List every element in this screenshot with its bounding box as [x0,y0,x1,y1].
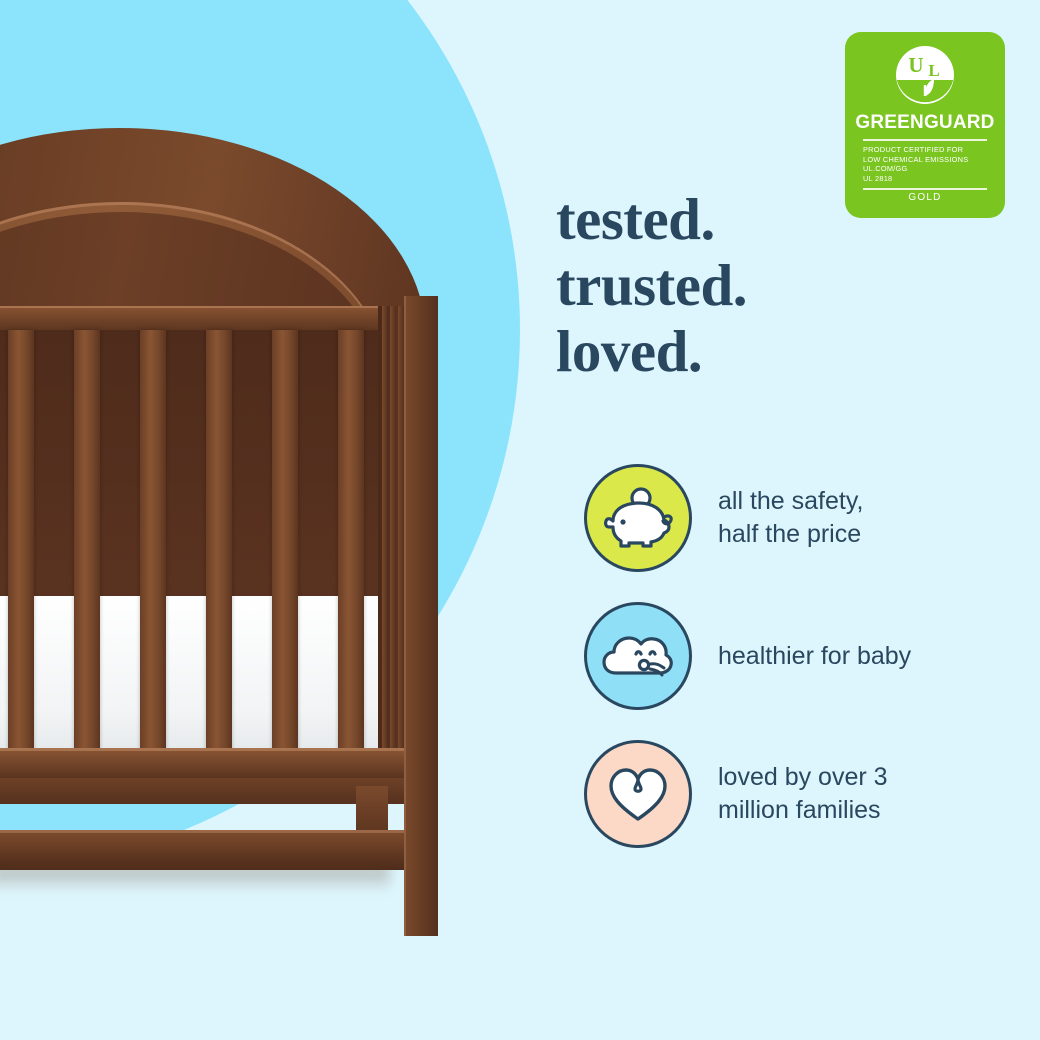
feature-item-loved: loved by over 3 million families [584,740,1004,848]
crib-end-slat [390,306,395,762]
crib-slat [8,330,34,762]
fineprint-line: UL.COM/GG [863,164,987,174]
badge-name: GREENGUARD [855,112,994,134]
feature-list: all the safety, half the price healthier… [584,464,1004,878]
crib-slat [140,330,166,762]
headline-line-2: trusted. [556,252,976,318]
headline-line-1: tested. [556,186,976,252]
crib-shadow [0,866,390,892]
crib-corner-post [404,296,438,936]
crib-slat [74,330,100,762]
headline-line-3: loved. [556,318,976,384]
crib-footboard [0,830,414,870]
feature-item-healthier: healthier for baby [584,602,1004,710]
fineprint-line: UL 2818 [863,174,987,184]
crib-base-block [356,786,388,832]
feature-text-line: healthier for baby [718,640,911,673]
badge-fineprint: PRODUCT CERTIFIED FOR LOW CHEMICAL EMISS… [863,145,987,183]
headline: tested. trusted. loved. [556,186,976,384]
feature-text-line: loved by over 3 [718,761,888,794]
piggy-bank-icon [584,464,692,572]
feature-text-line: million families [718,794,888,827]
crib-end-slat [382,306,387,762]
crib-slat [338,330,364,762]
badge-divider [863,139,987,141]
fineprint-line: PRODUCT CERTIFIED FOR [863,145,987,155]
crib-base-rail-lower [0,778,414,804]
feature-text-safety: all the safety, half the price [718,485,863,551]
crib-base-rail [0,748,414,778]
svg-text:L: L [928,61,939,80]
feature-text-line: half the price [718,518,863,551]
ul-logo-icon: U L [894,44,956,106]
crib-top-rail [0,306,420,332]
feature-text-loved: loved by over 3 million families [718,761,888,827]
feature-text-line: all the safety, [718,485,863,518]
cloud-blowing-icon [584,602,692,710]
feature-text-healthier: healthier for baby [718,640,911,673]
crib-slat [272,330,298,762]
crib-slats [0,330,410,762]
marketing-image: U L GREENGUARD PRODUCT CERTIFIED FOR LOW… [0,0,1040,1040]
heart-icon [584,740,692,848]
svg-text:U: U [908,53,923,77]
fineprint-line: LOW CHEMICAL EMISSIONS [863,155,987,165]
crib-product-image [0,0,470,960]
feature-item-safety: all the safety, half the price [584,464,1004,572]
crib-end-slat [398,306,403,762]
crib-slat [206,330,232,762]
